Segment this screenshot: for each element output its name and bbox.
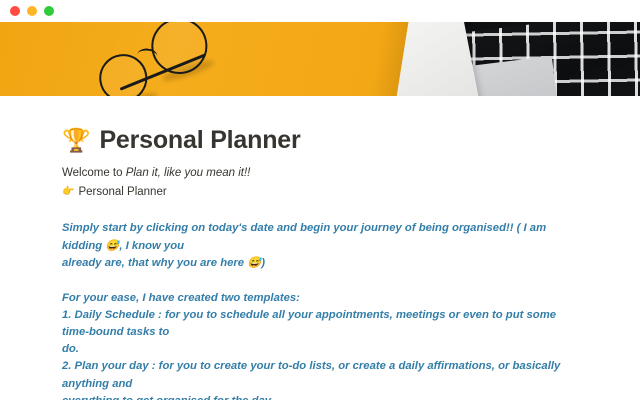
minimize-window-button[interactable] <box>27 6 37 16</box>
page-content: 🏆 Personal Planner Welcome to Plan it, l… <box>0 126 640 400</box>
welcome-tagline: Plan it, like you mean it!! <box>126 167 251 179</box>
close-window-button[interactable] <box>10 6 20 16</box>
paragraph-line: already are, that why you are here 😅) <box>62 255 578 272</box>
paragraph-line: do. <box>62 341 578 358</box>
cover-image[interactable] <box>0 22 640 96</box>
window-titlebar <box>0 0 640 22</box>
pointing-hand-icon: 👉 <box>62 187 74 197</box>
page-title-text: Personal Planner <box>99 126 300 155</box>
paragraph-templates: For your ease, I have created two templa… <box>62 290 578 400</box>
zoom-window-button[interactable] <box>44 6 54 16</box>
traffic-light-group <box>10 6 54 16</box>
paragraph-intro: Simply start by clicking on today's date… <box>62 220 578 271</box>
page-mention-label: Personal Planner <box>78 184 166 201</box>
yellow-desk-decor <box>0 22 410 96</box>
paragraph-line: For your ease, I have created two templa… <box>62 290 578 307</box>
paragraph-line: 1. Daily Schedule : for you to schedule … <box>62 307 578 341</box>
trophy-icon[interactable]: 🏆 <box>62 129 90 152</box>
paragraph-line: Simply start by clicking on today's date… <box>62 220 578 254</box>
page-title[interactable]: 🏆 Personal Planner <box>62 126 578 155</box>
paragraph-line: 2. Plan your day : for you to create you… <box>62 358 578 392</box>
page-mention[interactable]: 👉 Personal Planner <box>62 184 578 201</box>
paragraph-line: everything to get organised for the day. <box>62 393 578 400</box>
app-window: 🏆 Personal Planner Welcome to Plan it, l… <box>0 0 640 400</box>
welcome-prefix: Welcome to <box>62 167 126 179</box>
welcome-line: Welcome to Plan it, like you mean it!! <box>62 165 578 182</box>
